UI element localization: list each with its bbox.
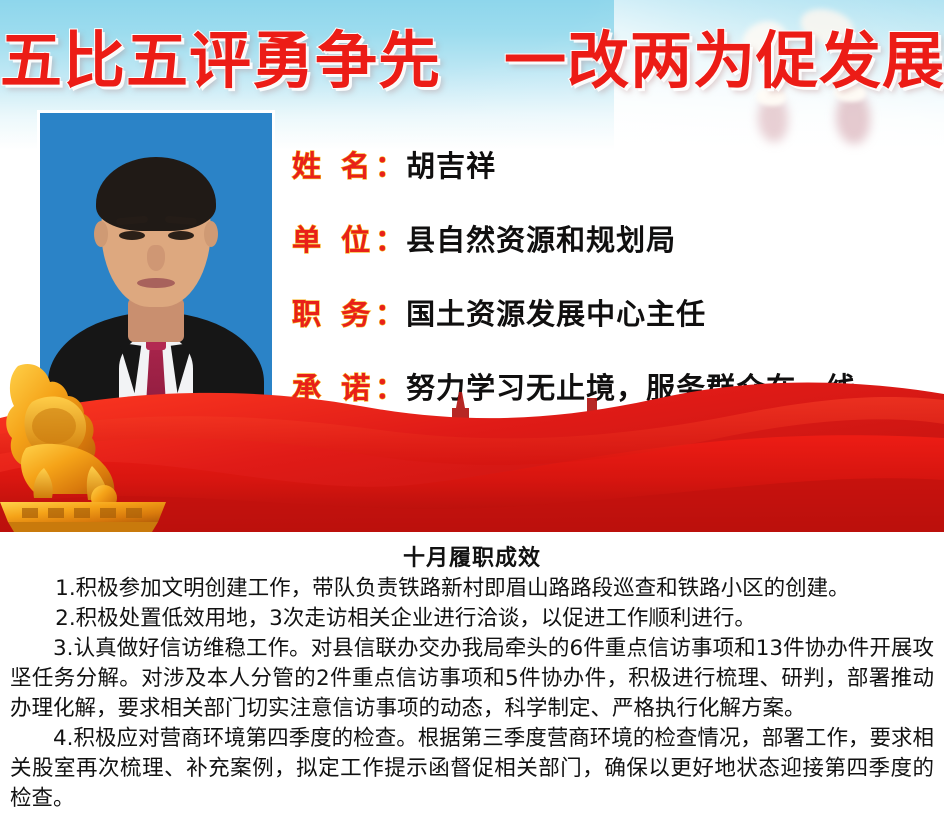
content-paragraph-3: 3.认真做好信访维稳工作。对县信联办交办我局牵头的6件重点信访事项和13件协办件… — [10, 634, 934, 724]
info-row-name: 姓 名 ： 胡吉祥 — [292, 143, 932, 185]
lion-pedestal-base — [8, 522, 158, 532]
info-label-position: 职 务 — [292, 291, 375, 333]
photo-eye-left — [119, 231, 145, 240]
lion-saddle — [32, 408, 76, 444]
golden-lion-statue-icon — [0, 352, 176, 532]
photo-mouth — [137, 278, 175, 288]
info-colon-position: ： — [375, 291, 404, 333]
info-label-name: 姓 名 — [292, 143, 375, 185]
info-colon-name: ： — [375, 143, 404, 185]
photo-ear-left — [94, 221, 108, 247]
content-paragraph-1: 1.积极参加文明创建工作，带队负责铁路新村即眉山路路段巡查和铁路小区的创建。 — [10, 574, 934, 604]
content-heading: 十月履职成效 — [10, 540, 934, 572]
content-paragraph-2: 2.积极处置低效用地，3次走访相关企业进行洽谈，以促进工作顺利进行。 — [10, 604, 934, 634]
content-paragraph-4: 4.积极应对营商环境第四季度的检查。根据第三季度营商环境的检查情况，部署工作，要… — [10, 724, 934, 814]
poster-root: 五比五评勇争先 一改两为促发展 姓 名 ： 胡吉祥 单 位 ： 县自然资源和规划… — [0, 0, 944, 831]
photo-ear-right — [204, 221, 218, 247]
info-value-unit: 县自然资源和规划局 — [406, 217, 676, 259]
info-colon-unit: ： — [375, 217, 404, 259]
info-row-unit: 单 位 ： 县自然资源和规划局 — [292, 217, 932, 259]
content-section: 十月履职成效 1.积极参加文明创建工作，带队负责铁路新村即眉山路路段巡查和铁路小… — [0, 532, 944, 831]
info-label-unit: 单 位 — [292, 217, 375, 259]
photo-hair — [96, 157, 216, 231]
info-value-position: 国土资源发展中心主任 — [406, 291, 706, 333]
info-value-name: 胡吉祥 — [406, 143, 496, 185]
info-row-position: 职 务 ： 国土资源发展中心主任 — [292, 291, 932, 333]
photo-eye-right — [168, 231, 194, 240]
photo-nose — [147, 245, 165, 271]
poster-title: 五比五评勇争先 一改两为促发展 — [0, 22, 944, 100]
